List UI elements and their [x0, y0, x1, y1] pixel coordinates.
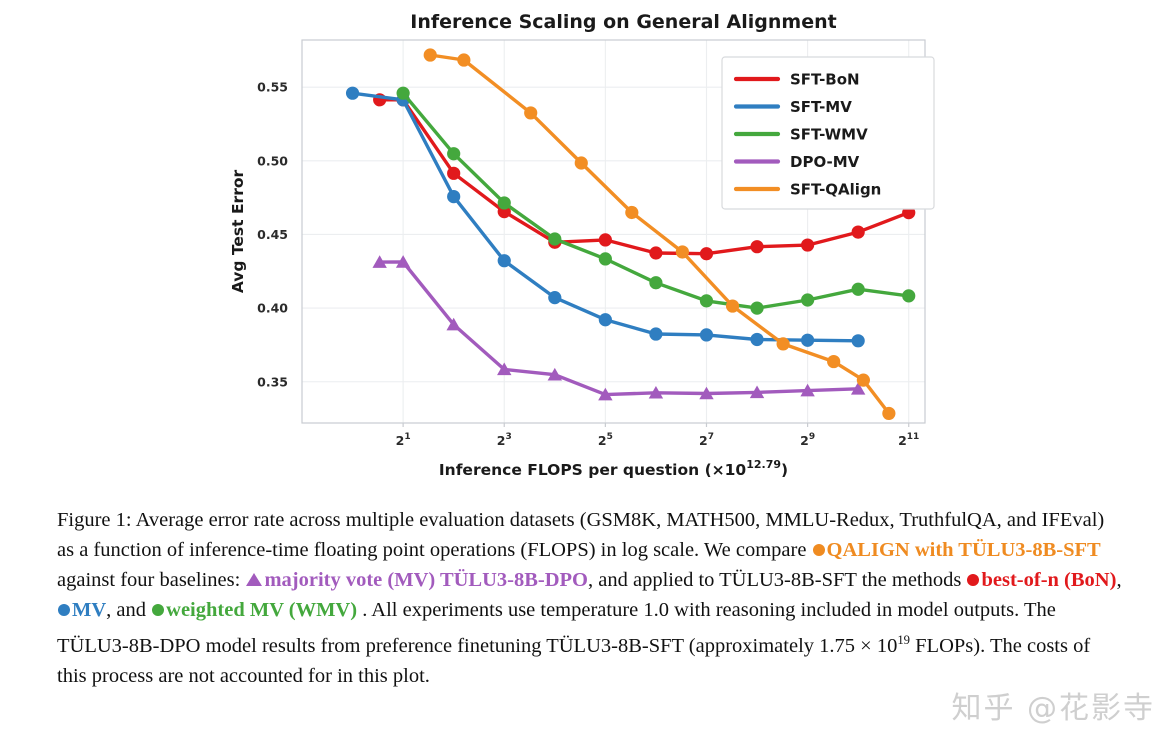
marker-sft-mv-9 [801, 334, 814, 347]
y-tick-label-3: 0.50 [257, 153, 288, 168]
caption-text-3: , and applied to TÜLU3-8B-SFT the method… [588, 569, 961, 591]
marker-sft-mv-2 [447, 190, 460, 203]
marker-sft-wmv-9 [852, 283, 865, 296]
marker-sft-qalign-10 [882, 407, 895, 420]
x-tick-label-2: 25 [598, 432, 613, 448]
marker-sft-qalign-3 [575, 156, 588, 169]
marker-sft-bon-7 [700, 247, 713, 260]
y-tick-label-4: 0.55 [257, 80, 288, 95]
figure-caption: Figure 1: Average error rate across mult… [57, 505, 1122, 691]
marker-sft-qalign-9 [857, 374, 870, 387]
x-tick-label-1: 23 [497, 432, 512, 448]
marker-sft-mv-7 [700, 328, 713, 341]
marker-sft-wmv-1 [447, 147, 460, 160]
x-tick-label-4: 29 [800, 432, 815, 448]
chart-figure: 0.350.400.450.500.552123252729211Inferen… [0, 0, 1173, 495]
marker-sft-bon-2 [447, 167, 460, 180]
marker-sft-mv-4 [548, 291, 561, 304]
mv-blue-dot-icon [58, 604, 70, 616]
qalign-orange-dot-icon [813, 544, 825, 556]
marker-sft-qalign-2 [524, 106, 537, 119]
marker-sft-wmv-7 [750, 302, 763, 315]
caption-dpo-label: majority vote (MV) TÜLU3-8B-DPO [264, 569, 588, 591]
figure-page: 0.350.400.450.500.552123252729211Inferen… [0, 0, 1173, 741]
x-tick-label-3: 27 [699, 432, 714, 448]
marker-sft-bon-6 [649, 246, 662, 259]
marker-sft-bon-5 [599, 233, 612, 246]
marker-sft-bon-9 [801, 238, 814, 251]
marker-sft-wmv-0 [397, 87, 410, 100]
legend-label-sft-mv: SFT-MV [790, 98, 852, 116]
marker-sft-wmv-6 [700, 294, 713, 307]
marker-sft-bon-8 [750, 240, 763, 253]
marker-sft-mv-8 [750, 333, 763, 346]
marker-sft-wmv-3 [548, 232, 561, 245]
caption-flops-exponent: 19 [897, 633, 910, 647]
caption-text-2: against four baselines: [57, 569, 240, 591]
caption-mv-label: MV [72, 599, 106, 621]
chart-title: Inference Scaling on General Alignment [410, 11, 836, 33]
caption-wmv-label: weighted MV (WMV) [166, 599, 357, 621]
marker-sft-wmv-5 [649, 276, 662, 289]
marker-sft-mv-5 [599, 313, 612, 326]
y-tick-label-1: 0.40 [257, 301, 288, 316]
marker-sft-qalign-0 [424, 48, 437, 61]
inference-scaling-line-chart: 0.350.400.450.500.552123252729211Inferen… [0, 0, 1173, 495]
legend-label-dpo-mv: DPO-MV [790, 153, 860, 171]
x-tick-label-0: 21 [396, 432, 411, 448]
bon-red-dot-icon [967, 574, 979, 586]
y-tick-label-2: 0.45 [257, 227, 288, 242]
marker-sft-mv-10 [852, 334, 865, 347]
legend-label-sft-qalign: SFT-QAlign [790, 181, 881, 199]
y-axis-label: Avg Test Error [229, 170, 247, 294]
marker-sft-qalign-1 [457, 53, 470, 66]
caption-figure-number: Figure 1: [57, 509, 132, 531]
caption-bon-label: best-of-n (BoN) [981, 569, 1116, 591]
marker-sft-wmv-8 [801, 293, 814, 306]
legend-label-sft-wmv: SFT-WMV [790, 126, 868, 144]
marker-sft-qalign-6 [726, 299, 739, 312]
caption-qalign-label: QALIGN with TÜLU3-8B-SFT [827, 539, 1101, 561]
legend-label-sft-bon: SFT-BoN [790, 71, 860, 89]
marker-sft-mv-6 [649, 327, 662, 340]
x-tick-label-5: 211 [898, 432, 919, 448]
dpo-purple-triangle-icon [246, 573, 262, 586]
marker-sft-mv-0 [346, 87, 359, 100]
marker-sft-wmv-10 [902, 289, 915, 302]
marker-sft-wmv-4 [599, 252, 612, 265]
x-axis-label: Inference FLOPS per question (×1012.79) [439, 458, 788, 479]
caption-text-4: , and [106, 599, 146, 621]
marker-sft-qalign-8 [827, 355, 840, 368]
y-tick-label-0: 0.35 [257, 374, 288, 389]
marker-sft-qalign-5 [676, 245, 689, 258]
marker-sft-mv-3 [498, 254, 511, 267]
marker-sft-wmv-2 [498, 196, 511, 209]
marker-sft-qalign-7 [777, 337, 790, 350]
wmv-green-dot-icon [152, 604, 164, 616]
marker-sft-qalign-4 [625, 206, 638, 219]
marker-sft-bon-10 [852, 225, 865, 238]
